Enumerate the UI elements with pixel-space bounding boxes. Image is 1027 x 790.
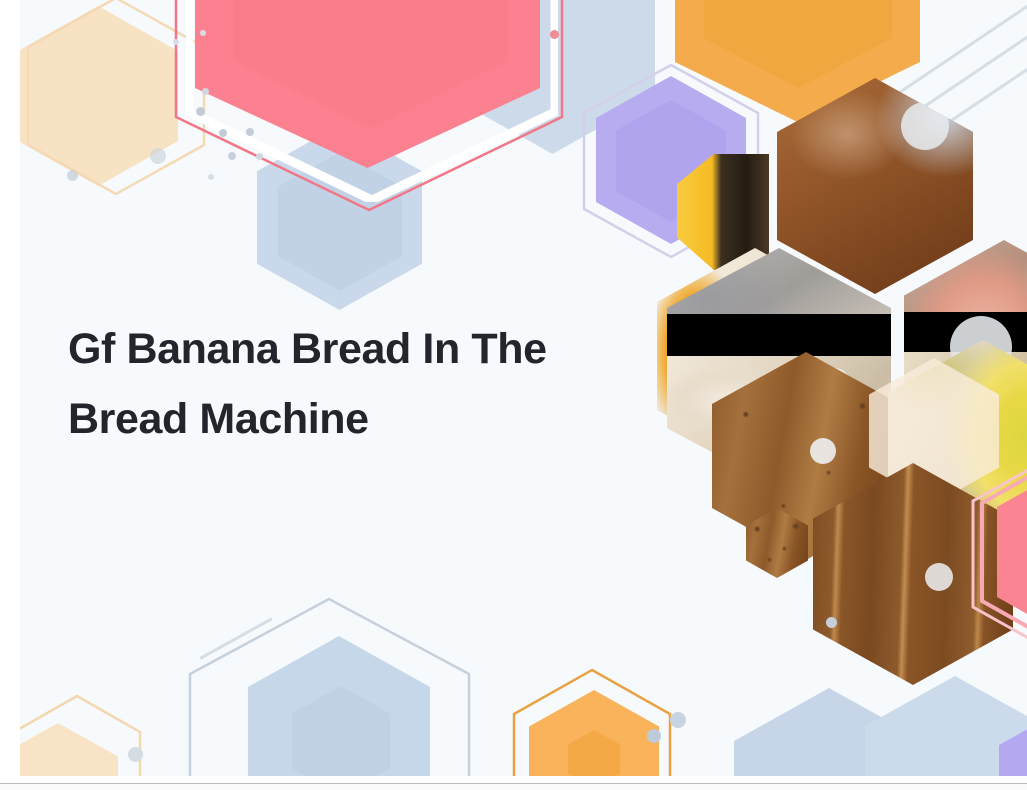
- dot-gray: [826, 617, 837, 628]
- page-title: Gf Banana Bread In The Bread Machine: [68, 315, 658, 454]
- dot-gray: [228, 152, 236, 160]
- dot-gray: [246, 128, 254, 136]
- hexagon-pink-right-edge-outline2: [970, 443, 1027, 665]
- dot-gray: [219, 129, 227, 137]
- dot-gray: [550, 30, 559, 39]
- dot-gray: [202, 88, 209, 95]
- dot-gray: [670, 712, 686, 728]
- dot-gray: [200, 30, 206, 36]
- slide-canvas: Gf Banana Bread In The Bread Machine: [20, 0, 1027, 776]
- overlay-circle: [901, 102, 949, 150]
- dot-gray: [196, 107, 205, 116]
- slide-page: Gf Banana Bread In The Bread Machine: [0, 0, 1027, 790]
- dot-gray: [256, 153, 263, 160]
- overlay-circle: [810, 438, 836, 464]
- diagonal-accent-lines: [919, 8, 1027, 111]
- dot-gray: [128, 747, 143, 762]
- letterbox-band: [667, 314, 891, 356]
- dot-gray: [150, 148, 166, 164]
- dot-gray: [173, 39, 179, 45]
- dot-gray: [67, 170, 78, 181]
- overlay-circle: [925, 563, 953, 591]
- hexagon-white-outline-top: [186, 0, 558, 202]
- dot-gray: [647, 729, 661, 743]
- footer-band: [0, 776, 1027, 783]
- dot-gray: [208, 174, 214, 180]
- footer-rule: [0, 783, 1027, 790]
